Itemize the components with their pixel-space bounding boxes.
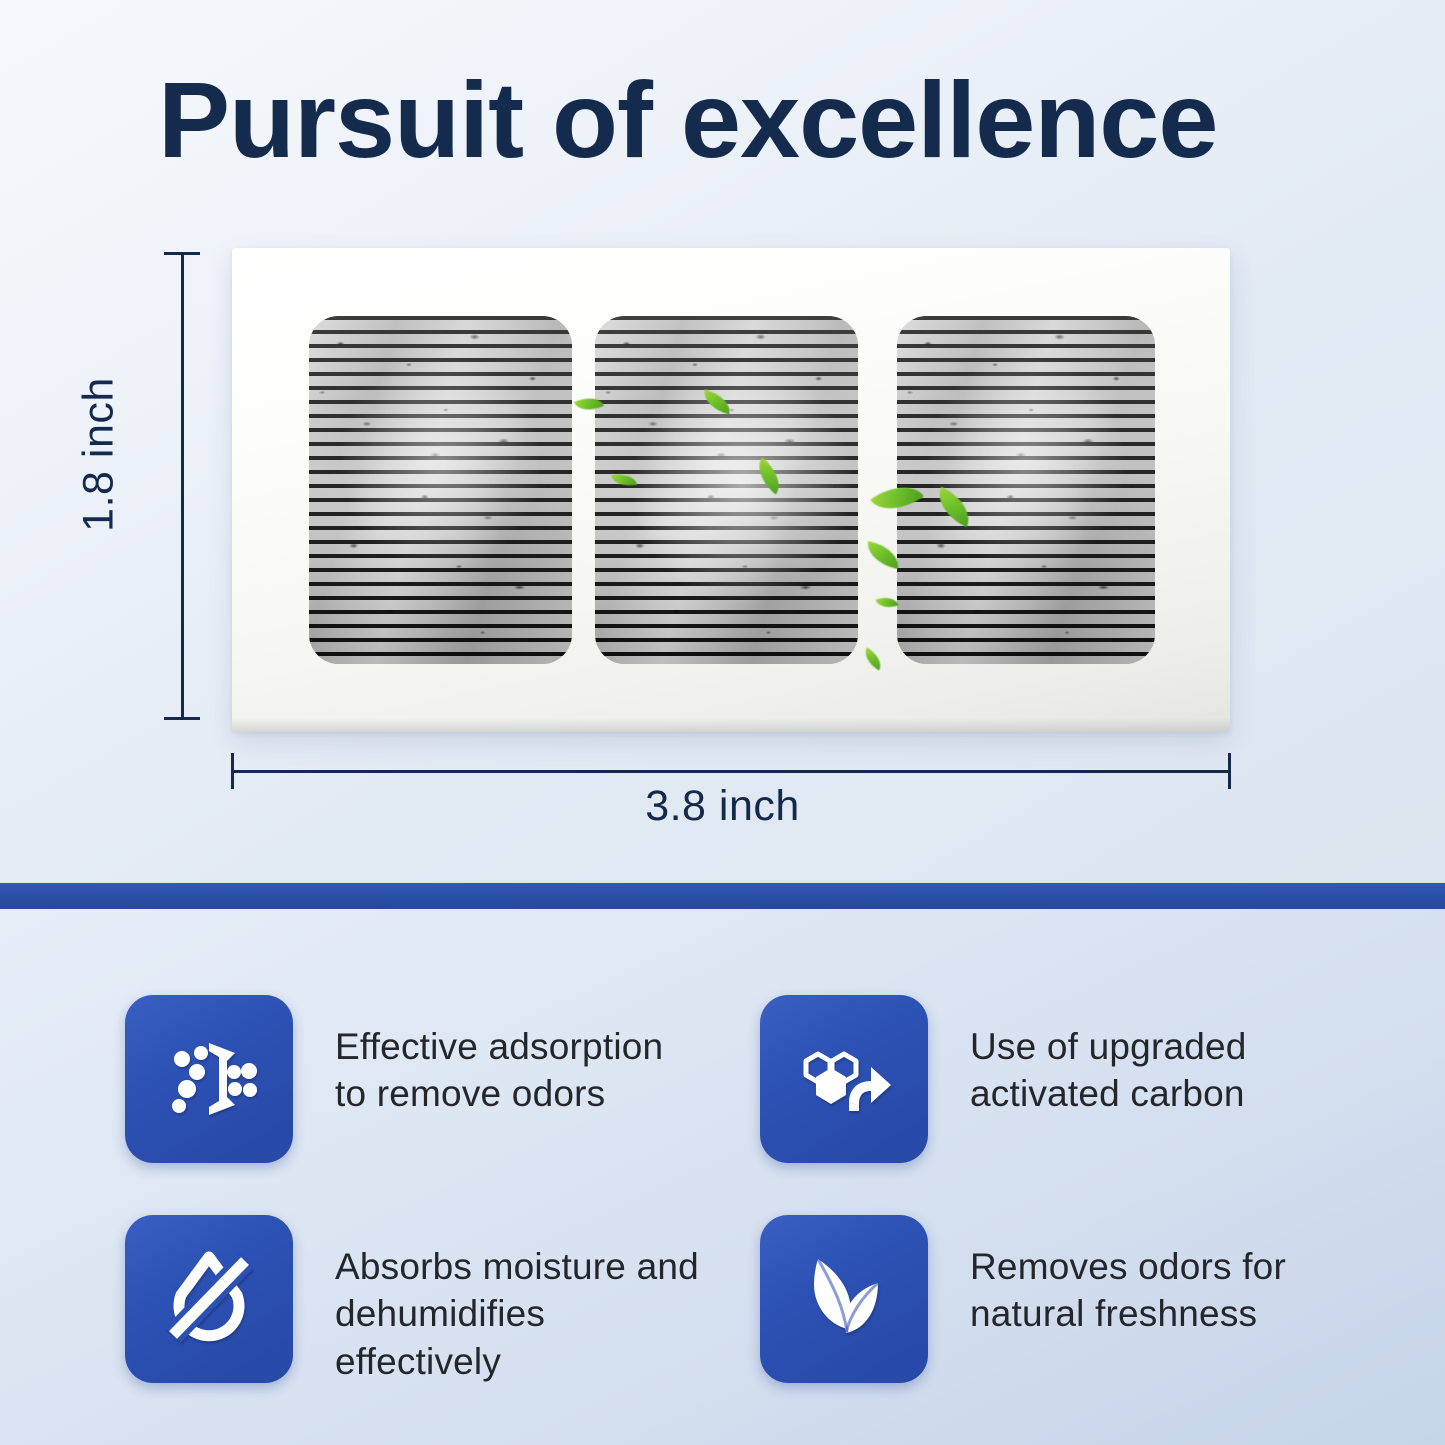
louvre-stripes <box>897 316 1155 664</box>
product-image <box>232 248 1230 732</box>
feature-label: Effective adsorption to remove odors <box>335 995 705 1118</box>
height-dimension-cap-top <box>164 252 200 255</box>
section-divider <box>0 883 1445 909</box>
product-infographic-page: Pursuit of excellence <box>0 0 1445 1445</box>
height-dimension-label: 1.8 inch <box>75 345 124 565</box>
width-dimension-line <box>231 770 1231 773</box>
feature-icon-tile <box>760 1215 928 1383</box>
no-moisture-droplet-icon <box>157 1247 261 1351</box>
leaves-icon <box>792 1247 896 1351</box>
filter-panel <box>595 316 858 664</box>
feature-item: Effective adsorption to remove odors <box>125 995 705 1163</box>
filter-panel <box>897 316 1155 664</box>
feature-item: Removes odors for natural freshness <box>760 1215 1380 1383</box>
filter-particles-icon <box>157 1027 261 1131</box>
feature-item: Absorbs moisture and dehumidifies effect… <box>125 1215 705 1385</box>
height-dimension-cap-bottom <box>164 717 200 720</box>
leaf-decoration <box>860 647 886 670</box>
feature-icon-tile <box>125 1215 293 1383</box>
feature-icon-tile <box>125 995 293 1163</box>
filter-panel <box>309 316 572 664</box>
page-title: Pursuit of excellence <box>158 62 1338 179</box>
louvre-stripes <box>595 316 858 664</box>
features-section: Effective adsorption to remove odors <box>0 909 1445 1445</box>
feature-label: Removes odors for natural freshness <box>970 1215 1380 1338</box>
width-dimension-label: 3.8 inch <box>0 782 1445 831</box>
leaf-decoration <box>875 593 898 612</box>
louvre-stripes <box>309 316 572 664</box>
feature-label: Absorbs moisture and dehumidifies effect… <box>335 1215 705 1385</box>
vent-frame <box>232 248 1230 732</box>
feature-item: Use of upgraded activated carbon <box>760 995 1380 1163</box>
hero-section: Pursuit of excellence <box>0 0 1445 883</box>
feature-grid: Effective adsorption to remove odors <box>0 909 1445 1445</box>
height-dimension-line <box>181 252 184 720</box>
feature-label: Use of upgraded activated carbon <box>970 995 1380 1118</box>
carbon-hexagon-upgrade-arrow-icon <box>792 1027 896 1131</box>
feature-icon-tile <box>760 995 928 1163</box>
